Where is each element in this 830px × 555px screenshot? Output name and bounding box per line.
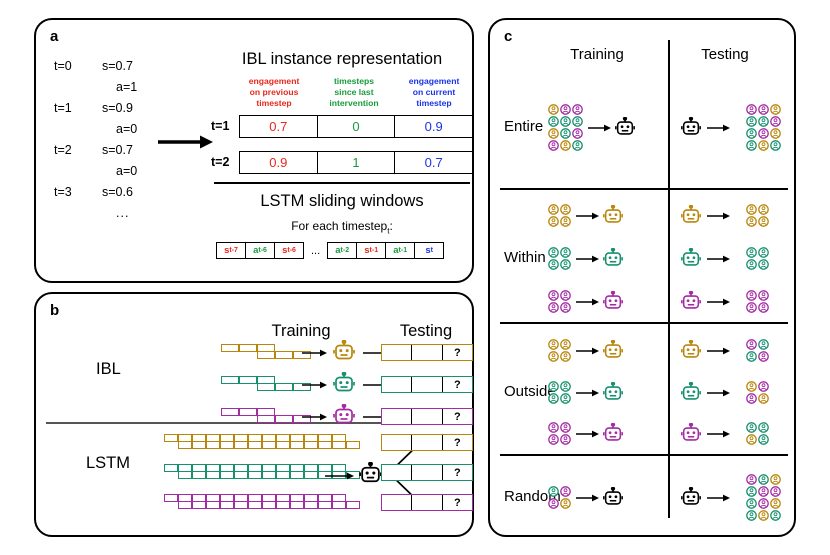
person-icon (746, 486, 757, 497)
person-icon (548, 290, 559, 301)
feature-header-line: intervention (314, 98, 394, 109)
instance-cell: 0.9 (394, 116, 472, 137)
person-icon-wrap (746, 498, 757, 509)
person-icon-wrap (758, 216, 769, 227)
person-icon-wrap (548, 128, 559, 139)
person-icon (548, 498, 559, 509)
window-cell: st-1 (357, 242, 386, 259)
person-icon-wrap (548, 486, 559, 497)
robot-icon (602, 340, 624, 360)
person-icon (572, 128, 583, 139)
person-icon (746, 302, 757, 313)
robot-icon (602, 248, 624, 268)
person-icon (770, 116, 781, 127)
person-icon (746, 474, 757, 485)
person-icon (560, 116, 571, 127)
action-value: a=0 (116, 123, 137, 136)
person-icon-wrap (758, 204, 769, 215)
arrow-icon (575, 296, 599, 308)
stair-cell (275, 383, 293, 391)
person-icon-wrap (548, 422, 559, 433)
long-bar-cell (164, 434, 178, 442)
person-icon-wrap (572, 116, 583, 127)
long-bar-cell (248, 441, 262, 449)
panel-c-testing-header: Testing (662, 46, 788, 63)
person-icon (548, 339, 559, 350)
feature-header-line: on current (394, 87, 474, 98)
long-bar-cell (262, 441, 276, 449)
person-icon-wrap (572, 128, 583, 139)
robot-icon (332, 404, 356, 426)
arrow-icon (706, 122, 730, 134)
long-bar-cell (192, 471, 206, 479)
person-icon-wrap (758, 381, 769, 392)
instance-vector: 0.7 0 0.9 (239, 115, 473, 138)
robot-icon (680, 291, 702, 311)
robot-icon (680, 205, 702, 225)
arrow-icon (706, 492, 730, 504)
feature-header-line: timestep (394, 98, 474, 109)
training-sequence-stairs (221, 344, 311, 359)
person-group (746, 422, 769, 445)
prediction-cell (382, 345, 411, 360)
person-icon-wrap (746, 247, 757, 258)
person-icon-wrap (560, 422, 571, 433)
stair-cell (221, 376, 239, 384)
person-icon-wrap (746, 204, 757, 215)
prediction-cell (411, 345, 441, 360)
person-icon-wrap (548, 116, 559, 127)
person-icon-wrap (746, 339, 757, 350)
person-icon (560, 422, 571, 433)
long-bar-cell (178, 441, 192, 449)
prediction-cell: ? (442, 377, 472, 392)
person-icon-wrap (746, 116, 757, 127)
long-bar-cell (164, 494, 178, 502)
person-icon (560, 339, 571, 350)
person-icon (746, 351, 757, 362)
person-group (548, 247, 571, 270)
person-group (548, 204, 571, 227)
arrow-icon (575, 428, 599, 440)
person-icon (746, 104, 757, 115)
robot-icon (680, 117, 702, 137)
stair-cell (239, 376, 257, 384)
person-icon (548, 128, 559, 139)
long-bar-cell (276, 471, 290, 479)
prediction-cell: ? (442, 465, 472, 480)
person-icon (560, 393, 571, 404)
person-icon (758, 422, 769, 433)
long-bar-cell (332, 441, 346, 449)
prediction-cell (382, 495, 411, 510)
panel-c-letter: c (504, 28, 512, 45)
person-icon-wrap (746, 351, 757, 362)
stair-cell (257, 351, 275, 359)
long-bar-cell (318, 441, 332, 449)
person-group (548, 290, 571, 313)
subtitle-text: For each timestep (291, 219, 387, 233)
arrow-icon (706, 253, 730, 265)
person-icon-wrap (758, 486, 769, 497)
long-bar-cell (206, 501, 220, 509)
stair-cell (239, 408, 257, 416)
person-icon (770, 474, 781, 485)
person-icon-wrap (758, 351, 769, 362)
instance-cell: 0.7 (240, 116, 317, 137)
person-icon-wrap (560, 339, 571, 350)
subtitle-colon: : (389, 219, 392, 233)
person-icon (758, 302, 769, 313)
panel-b-row-label-lstm: LSTM (86, 454, 130, 473)
prediction-cell (411, 435, 441, 450)
prediction-sequence: ? (381, 434, 473, 451)
prediction-cell (411, 495, 441, 510)
panel-a: a t=0s=0.7a=1t=1s=0.9a=0t=2s=0.7a=0t=3s=… (34, 18, 474, 283)
person-icon (770, 486, 781, 497)
stair-cell (221, 344, 239, 352)
person-icon-wrap (548, 247, 559, 258)
ibl-representation-title: IBL instance representation (211, 50, 473, 69)
person-icon-wrap (770, 128, 781, 139)
long-bar-cell (234, 471, 248, 479)
prediction-cell (382, 435, 411, 450)
arrow-icon (706, 210, 730, 222)
person-icon (746, 247, 757, 258)
person-icon (548, 140, 559, 151)
person-icon (758, 259, 769, 270)
person-icon (548, 204, 559, 215)
long-bar-cell (290, 471, 304, 479)
sequence-state-row: t=3s=0.6 (54, 186, 204, 207)
panel-b: b Training Testing IBL LSTM ?????? (34, 292, 474, 537)
feature-header: engagementon previoustimestep (234, 76, 314, 109)
timestep-label: t=3 (54, 186, 72, 199)
person-icon-wrap (548, 381, 559, 392)
state-value: s=0.7 (102, 144, 133, 157)
person-icon-wrap (770, 486, 781, 497)
robot-icon (680, 248, 702, 268)
person-icon (758, 486, 769, 497)
person-icon-wrap (746, 140, 757, 151)
window-cell: at-1 (386, 242, 415, 259)
person-icon-wrap (548, 498, 559, 509)
long-bar-cell (304, 471, 318, 479)
long-bar-cell (178, 471, 192, 479)
person-icon (758, 140, 769, 151)
section-divider (214, 182, 470, 184)
prediction-cell (382, 409, 411, 424)
person-icon (560, 498, 571, 509)
person-icon-wrap (746, 290, 757, 301)
stair-cell (221, 408, 239, 416)
person-icon (758, 247, 769, 258)
person-icon (560, 104, 571, 115)
person-icon-wrap (560, 434, 571, 445)
feature-header-line: on previous (234, 87, 314, 98)
person-icon (770, 104, 781, 115)
person-icon (758, 498, 769, 509)
feature-header: timestepssince lastintervention (314, 76, 394, 109)
person-icon (560, 259, 571, 270)
prediction-cell: ? (442, 409, 472, 424)
arrow-icon (575, 210, 599, 222)
person-icon (758, 339, 769, 350)
instance-row: t=2 0.9 1 0.7 (211, 151, 473, 173)
training-sequence-long (164, 494, 360, 509)
person-group (746, 339, 769, 362)
lstm-windows-subtitle: For each timestept: (211, 219, 473, 235)
person-icon (746, 116, 757, 127)
panel-c-row-label-entire: Entire (504, 118, 543, 135)
person-icon (746, 216, 757, 227)
long-bar-cell (206, 441, 220, 449)
robot-icon (602, 382, 624, 402)
prediction-cell: ? (442, 435, 472, 450)
person-group (746, 290, 769, 313)
arrow-icon (575, 345, 599, 357)
person-icon-wrap (560, 498, 571, 509)
person-icon-wrap (770, 498, 781, 509)
arrow-icon (706, 428, 730, 440)
person-icon (548, 393, 559, 404)
person-group (548, 422, 571, 445)
sequence-state-row: t=1s=0.9 (54, 102, 204, 123)
prediction-cell (382, 465, 411, 480)
panel-b-row-label-ibl: IBL (96, 360, 121, 379)
long-bar-row (178, 441, 360, 449)
long-bar-cell (164, 464, 178, 472)
prediction-cell: ? (442, 345, 472, 360)
panel-c-row-label-within: Within (504, 249, 546, 266)
person-icon-wrap (746, 510, 757, 521)
long-bar-cell (220, 501, 234, 509)
instance-cell: 0.9 (240, 152, 317, 173)
person-icon (746, 381, 757, 392)
panel-c-row-divider (500, 322, 788, 324)
long-bar-cell (192, 501, 206, 509)
person-icon (746, 510, 757, 521)
sequence-action-row: ... (54, 207, 204, 228)
feature-header-line: engagement (394, 76, 474, 87)
person-group (746, 104, 781, 151)
person-icon-wrap (746, 434, 757, 445)
long-bar-cell (192, 441, 206, 449)
window-cell: at-2 (327, 242, 357, 259)
person-icon (746, 140, 757, 151)
person-icon (758, 204, 769, 215)
long-bar-cell (248, 501, 262, 509)
person-icon-wrap (770, 116, 781, 127)
stair-cell (275, 351, 293, 359)
instance-cell: 0 (317, 116, 395, 137)
long-bar-cell (262, 471, 276, 479)
person-icon (548, 302, 559, 313)
sliding-window: st-7at-6st-6 ... at-2st-1at-1st (216, 242, 444, 259)
person-icon-wrap (746, 393, 757, 404)
feature-headers: engagementon previoustimesteptimestepssi… (234, 76, 474, 109)
arrow-icon (575, 492, 599, 504)
train-test-divider (668, 40, 670, 518)
person-icon-wrap (770, 104, 781, 115)
robot-icon (602, 291, 624, 311)
prediction-sequence: ? (381, 376, 473, 393)
person-icon (758, 474, 769, 485)
stair-cell (257, 383, 275, 391)
person-icon (770, 140, 781, 151)
timestep-label: t=0 (54, 60, 72, 73)
person-icon (746, 393, 757, 404)
person-group (746, 204, 769, 227)
person-icon (548, 259, 559, 270)
person-icon (560, 290, 571, 301)
state-value: s=0.9 (102, 102, 133, 115)
person-icon (758, 128, 769, 139)
prediction-cell: ? (442, 495, 472, 510)
person-icon (746, 259, 757, 270)
training-sequence-stairs (221, 376, 311, 391)
person-icon-wrap (548, 259, 559, 270)
panel-c: c Training Testing EntireWithinOutsideRa… (488, 18, 796, 537)
long-bar-cell (262, 501, 276, 509)
prediction-cell (411, 409, 441, 424)
person-icon (548, 104, 559, 115)
person-icon (746, 339, 757, 350)
robot-icon (602, 487, 624, 507)
person-icon-wrap (758, 498, 769, 509)
action-value: a=0 (116, 165, 137, 178)
person-icon-wrap (746, 486, 757, 497)
arrow-icon (587, 122, 611, 134)
person-icon-wrap (560, 140, 571, 151)
person-icon (560, 216, 571, 227)
person-icon-wrap (560, 247, 571, 258)
robot-icon (680, 340, 702, 360)
person-icon-wrap (560, 486, 571, 497)
person-icon-wrap (560, 204, 571, 215)
person-icon-wrap (758, 339, 769, 350)
person-icon (746, 498, 757, 509)
person-icon-wrap (758, 474, 769, 485)
person-icon (548, 486, 559, 497)
prediction-cell (411, 377, 441, 392)
long-bar-cell (304, 501, 318, 509)
person-icon (746, 128, 757, 139)
person-icon (758, 393, 769, 404)
person-icon-wrap (746, 381, 757, 392)
robot-icon (602, 205, 624, 225)
timestep-label: t=2 (54, 144, 72, 157)
prediction-cell (411, 465, 441, 480)
person-icon-wrap (548, 434, 559, 445)
long-bar-cell (248, 471, 262, 479)
person-icon-wrap (560, 381, 571, 392)
long-bar-cell (220, 471, 234, 479)
long-bar-cell (332, 501, 346, 509)
person-icon (746, 434, 757, 445)
panel-b-training-header: Training (241, 322, 361, 341)
person-icon-wrap (560, 351, 571, 362)
robot-icon (602, 423, 624, 443)
arrow-icon (324, 470, 354, 482)
person-icon-wrap (746, 474, 757, 485)
person-icon (758, 381, 769, 392)
person-icon (746, 204, 757, 215)
feature-header: engagementon currenttimestep (394, 76, 474, 109)
person-icon (548, 422, 559, 433)
person-icon-wrap (746, 216, 757, 227)
long-bar-cell (206, 471, 220, 479)
person-group (548, 486, 571, 509)
instance-cell: 0.7 (394, 152, 472, 173)
person-icon (548, 116, 559, 127)
transform-arrow-icon (156, 133, 214, 151)
window-cell: st-6 (275, 242, 304, 259)
instance-label: t=1 (211, 119, 239, 133)
prediction-sequence: ? (381, 464, 473, 481)
action-value: a=1 (116, 81, 137, 94)
person-icon (548, 247, 559, 258)
person-icon-wrap (560, 259, 571, 270)
person-icon-wrap (758, 140, 769, 151)
person-icon (548, 381, 559, 392)
instance-cell: 1 (317, 152, 395, 173)
robot-icon (614, 117, 636, 137)
training-sequence-stairs (221, 408, 311, 423)
person-icon (560, 434, 571, 445)
person-icon (572, 140, 583, 151)
person-icon-wrap (560, 216, 571, 227)
instance-vector: 0.9 1 0.7 (239, 151, 473, 174)
person-icon-wrap (548, 204, 559, 215)
robot-icon (332, 372, 356, 394)
prediction-cell (382, 377, 411, 392)
person-icon-wrap (548, 140, 559, 151)
person-group (746, 474, 781, 521)
person-icon (758, 351, 769, 362)
sequence-ellipsis: ... (116, 207, 129, 220)
person-icon-wrap (572, 104, 583, 115)
person-icon-wrap (758, 510, 769, 521)
person-icon-wrap (758, 128, 769, 139)
person-icon-wrap (548, 302, 559, 313)
arrow-icon (706, 296, 730, 308)
person-icon (560, 486, 571, 497)
person-icon-wrap (746, 302, 757, 313)
person-icon-wrap (548, 216, 559, 227)
sequence-action-row: a=0 (54, 165, 204, 186)
person-icon (758, 216, 769, 227)
person-icon-wrap (548, 351, 559, 362)
window-cell: at-6 (246, 242, 275, 259)
state-value: s=0.6 (102, 186, 133, 199)
person-icon (758, 434, 769, 445)
window-cell: st-7 (216, 242, 246, 259)
person-icon (560, 302, 571, 313)
person-icon (758, 510, 769, 521)
robot-icon (680, 423, 702, 443)
panel-a-letter: a (50, 28, 58, 45)
person-icon-wrap (758, 116, 769, 127)
person-icon (758, 290, 769, 301)
panel-b-letter: b (50, 302, 59, 319)
person-icon-wrap (560, 128, 571, 139)
person-icon-wrap (746, 422, 757, 433)
person-icon-wrap (548, 104, 559, 115)
stair-cell (239, 344, 257, 352)
robot-icon (680, 382, 702, 402)
person-icon (758, 104, 769, 115)
